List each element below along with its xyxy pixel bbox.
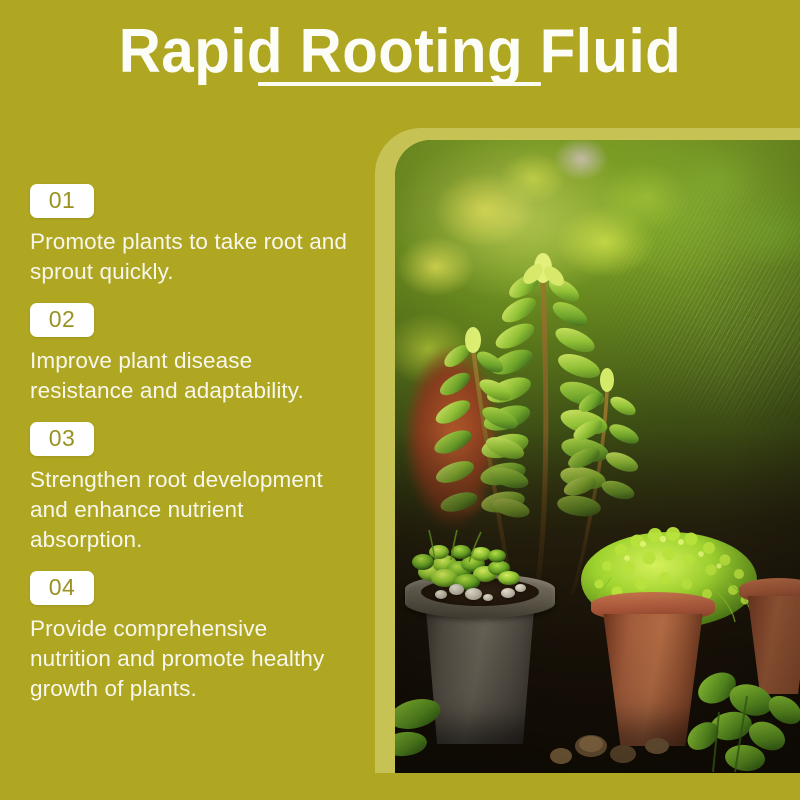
feature-item-03: 03 Strengthen root development and enhan… — [30, 422, 360, 555]
feature-badge-01: 01 — [30, 184, 94, 218]
feature-number-label: 03 — [42, 425, 82, 452]
title-block: Rapid Rooting Fluid — [0, 20, 800, 84]
garden-plants-photo — [395, 140, 800, 773]
feature-badge-03: 03 — [30, 422, 94, 456]
feature-item-04: 04 Provide comprehensive nutrition and p… — [30, 571, 360, 704]
feature-item-02: 02 Improve plant disease resistance and … — [30, 303, 360, 406]
feature-list: 01 Promote plants to take root and sprou… — [30, 184, 360, 704]
feature-badge-02: 02 — [30, 303, 94, 337]
feature-number-label: 01 — [42, 187, 82, 214]
feature-text-02: Improve plant disease resistance and ada… — [30, 346, 350, 406]
feature-number-label: 04 — [42, 574, 82, 601]
feature-number-label: 02 — [42, 306, 82, 333]
product-infographic: Rapid Rooting Fluid 01 Promote plants to… — [0, 0, 800, 800]
photo-vignette — [395, 140, 800, 773]
feature-text-04: Provide comprehensive nutrition and prom… — [30, 614, 350, 704]
feature-text-01: Promote plants to take root and sprout q… — [30, 227, 350, 287]
product-photo-panel — [375, 128, 800, 773]
page-title: Rapid Rooting Fluid — [24, 20, 776, 84]
feature-item-01: 01 Promote plants to take root and sprou… — [30, 184, 360, 287]
feature-text-03: Strengthen root development and enhance … — [30, 465, 350, 555]
feature-badge-04: 04 — [30, 571, 94, 605]
title-underline-rule — [258, 82, 541, 86]
